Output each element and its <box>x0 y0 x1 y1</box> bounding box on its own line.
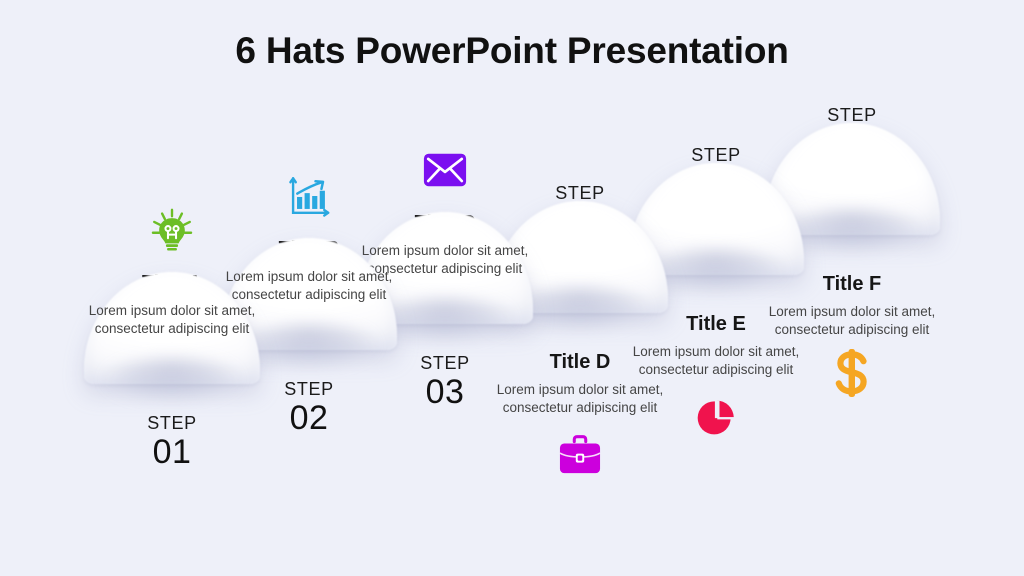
step-number: 02 <box>284 401 333 435</box>
lightbulb-icon <box>148 206 196 254</box>
step-word: STEP <box>147 414 196 432</box>
step-label: STEP 03 <box>420 354 469 409</box>
briefcase-icon <box>556 431 604 479</box>
step-number: 01 <box>147 435 196 469</box>
step-label: STEP 02 <box>284 380 333 435</box>
step-label: STEP 01 <box>147 414 196 469</box>
dollar-sign-icon <box>828 349 876 397</box>
step-title: Title F <box>823 273 882 295</box>
bar-chart-growth-icon <box>285 172 333 220</box>
pie-chart-icon <box>692 393 740 441</box>
step-number: 03 <box>420 375 469 409</box>
step-word: STEP <box>420 354 469 372</box>
envelope-icon <box>421 146 469 194</box>
page-title: 6 Hats PowerPoint Presentation <box>0 30 1024 72</box>
step-description: Lorem ipsum dolor sit amet, consectetur … <box>84 302 260 338</box>
step-title: Title D <box>550 351 611 373</box>
step-group-1[interactable]: Title A Lorem ipsum dolor sit amet, cons… <box>74 206 270 469</box>
step-title: Title E <box>686 313 746 335</box>
step-word: STEP <box>284 380 333 398</box>
